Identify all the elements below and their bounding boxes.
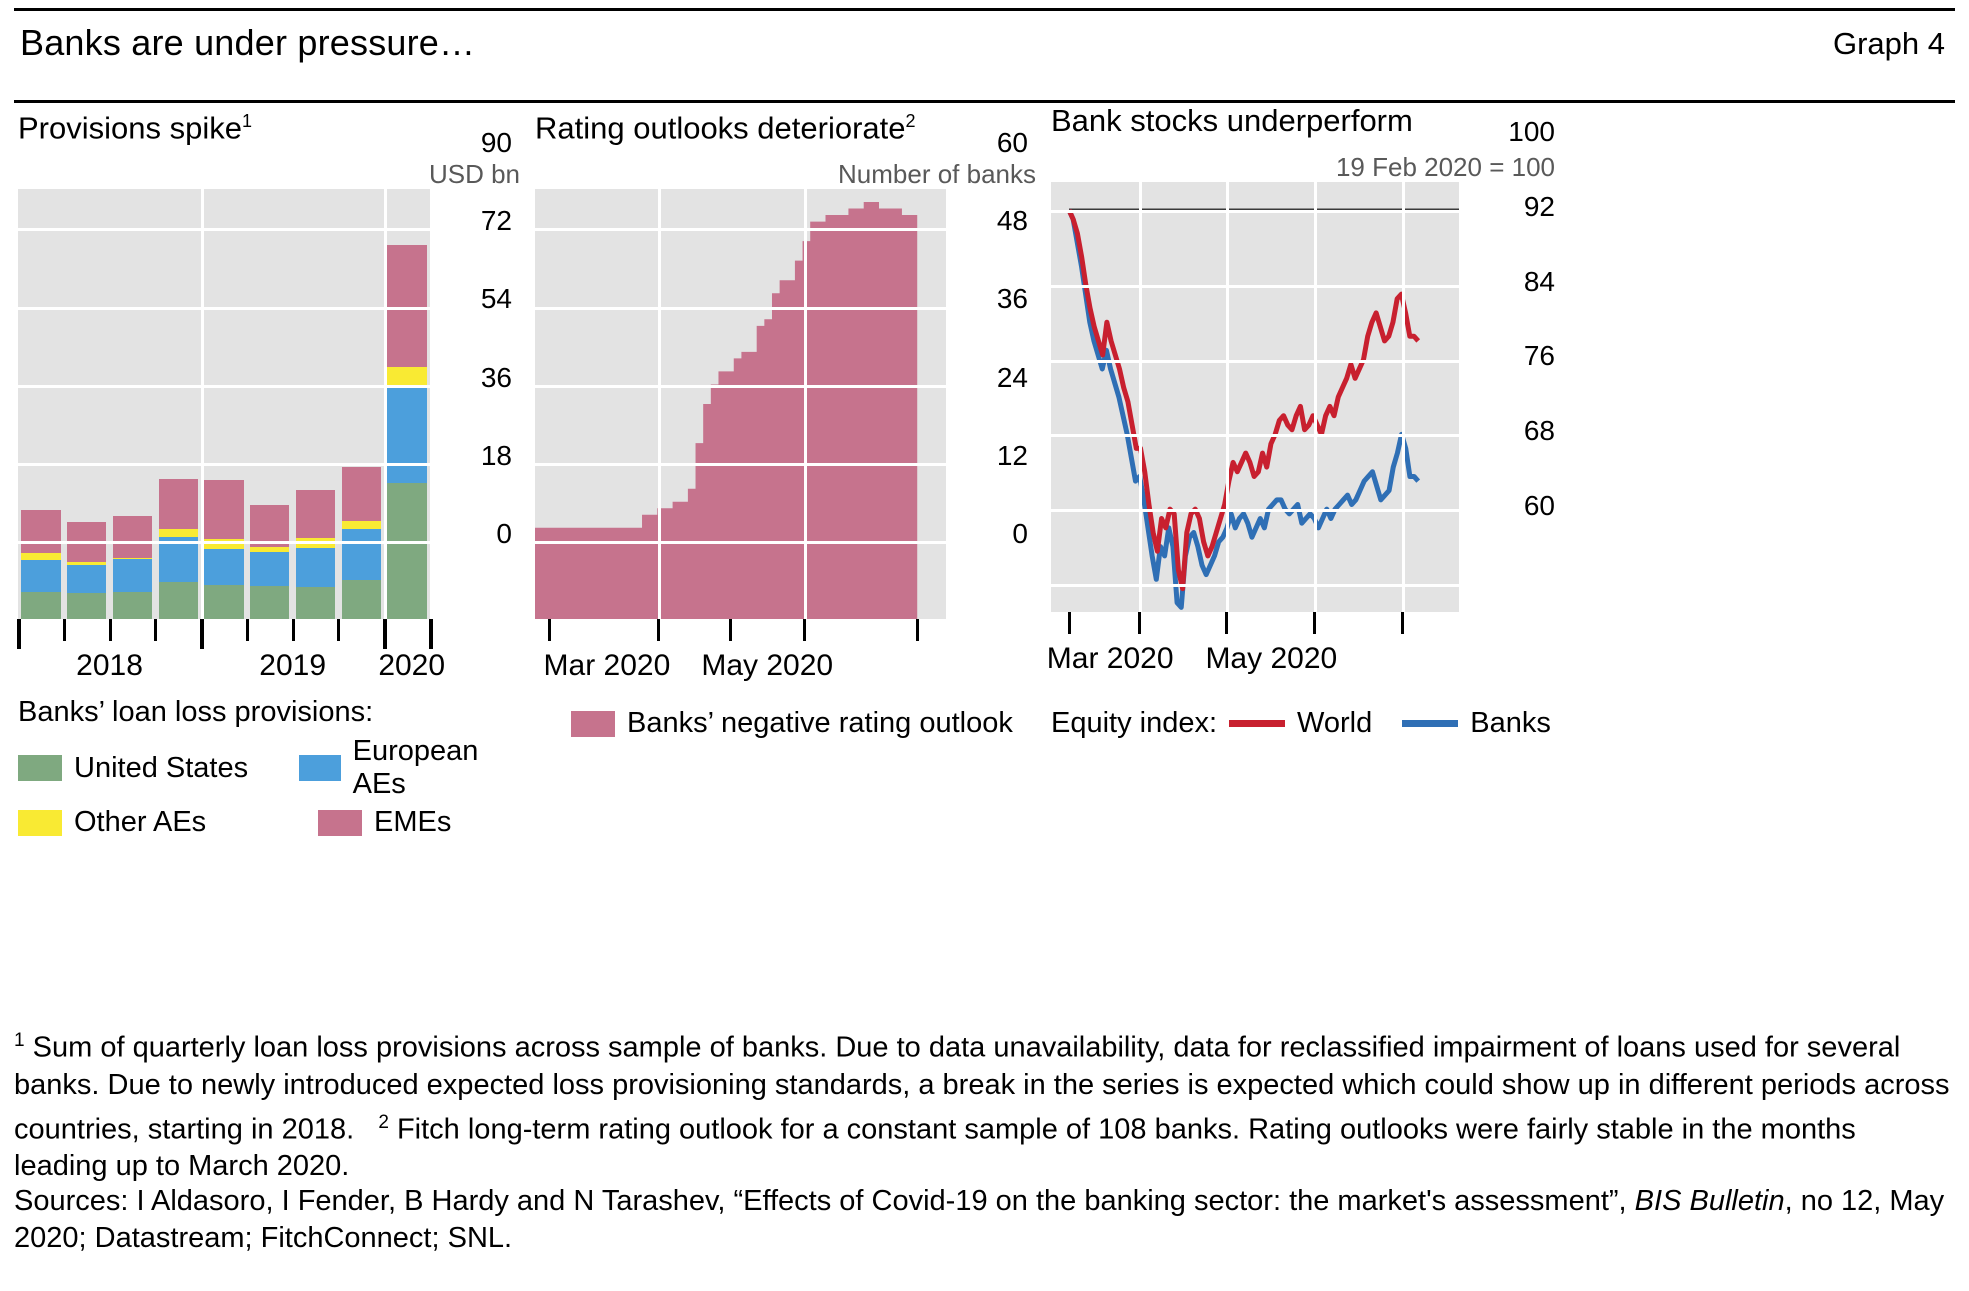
- y-tick-label: 24: [997, 364, 1028, 392]
- gridline-horizontal: [18, 228, 430, 231]
- panel3-lines-svg: [1051, 182, 1459, 612]
- x-tick: [657, 619, 660, 641]
- bar-column: [159, 479, 198, 619]
- line-series-banks: [1069, 210, 1418, 607]
- gridline-vertical: [1139, 182, 1142, 612]
- panel1-title-text: Provisions spike: [18, 110, 242, 145]
- legend1-label-3: EMEs: [374, 806, 451, 839]
- y-tick-label: 36: [481, 364, 512, 392]
- bar-column: [21, 510, 60, 619]
- bar-column: [204, 480, 243, 619]
- header-rule: [14, 100, 1955, 103]
- x-tick: [1138, 612, 1141, 634]
- gridline-horizontal: [1051, 584, 1459, 587]
- x-tick: [803, 619, 806, 641]
- footnote-2-marker: 2: [378, 1112, 389, 1133]
- bar-segment: [67, 565, 106, 594]
- legend-swatch-other-aes: [18, 810, 62, 836]
- legend1-item-united-states[interactable]: United States: [18, 752, 299, 785]
- panel1-plot-area: [18, 189, 430, 619]
- panel3-legend: Equity index: World Banks: [1051, 702, 1551, 740]
- panel2-area-svg: [535, 189, 946, 619]
- x-tick: [17, 619, 21, 649]
- gridline-horizontal: [1051, 285, 1459, 288]
- legend2-row-1: Banks’ negative rating outlook: [571, 707, 1013, 740]
- sources-line: Sources: I Aldasoro, I Fender, B Hardy a…: [14, 1183, 1955, 1257]
- bar-segment: [159, 529, 198, 537]
- y-tick-label: 0: [1012, 520, 1028, 548]
- bar-segment: [21, 560, 60, 592]
- page-title: Banks are under pressure…: [20, 22, 475, 64]
- panel1-legend: Banks’ loan loss provisions: United Stat…: [18, 696, 526, 839]
- legend1-label-0: United States: [74, 752, 248, 785]
- bar-segment: [342, 521, 381, 530]
- panel1-footnote-marker: 1: [242, 111, 252, 131]
- y-tick-label: 76: [1524, 342, 1555, 370]
- bar-segment: [250, 586, 289, 619]
- x-tick: [292, 619, 295, 641]
- bar-segment: [250, 552, 289, 586]
- x-tick: [1401, 612, 1404, 634]
- legend-line-world: [1229, 720, 1285, 727]
- panel2-y-axis: 01224364860: [958, 104, 1028, 534]
- y-tick-label: 72: [481, 207, 512, 235]
- bar-segment: [250, 547, 289, 553]
- gridline-vertical: [1314, 182, 1317, 612]
- bar-segment: [113, 592, 152, 620]
- x-tick: [337, 619, 340, 641]
- gridline-vertical: [201, 189, 204, 619]
- legend-line-banks: [1402, 720, 1458, 727]
- bar-segment: [296, 587, 335, 620]
- gridline-horizontal: [535, 228, 946, 231]
- panel3-x-ticks: [1051, 612, 1459, 642]
- bar-segment: [387, 367, 426, 385]
- gridline-horizontal: [535, 463, 946, 466]
- bar-segment: [67, 593, 106, 619]
- gridline-horizontal: [1051, 434, 1459, 437]
- panel2-x-labels: Mar 2020May 2020: [535, 649, 946, 689]
- x-axis-label: 2019: [259, 649, 326, 683]
- y-tick-label: 0: [496, 520, 512, 548]
- legend-swatch-united-states: [18, 755, 62, 781]
- x-tick: [429, 619, 433, 649]
- legend-swatch-negative-rating-outlook: [571, 711, 615, 737]
- legend1-row-1: United States European AEs: [18, 735, 526, 801]
- panel-provisions: Provisions spike1 USD bn 01836547290 201…: [14, 104, 526, 904]
- sources-prefix: Sources: I Aldasoro, I Fender, B Hardy a…: [14, 1185, 1635, 1217]
- gridline-vertical: [804, 189, 807, 619]
- legend2-item-negative-outlook[interactable]: Banks’ negative rating outlook: [571, 707, 1013, 740]
- y-tick-label: 18: [481, 442, 512, 470]
- bar-segment: [113, 558, 152, 560]
- bar-segment: [387, 483, 426, 620]
- panel2-x-ticks: [535, 619, 946, 649]
- panel-bank-stocks: Bank stocks underperform 19 Feb 2020 = 1…: [1047, 104, 1955, 904]
- legend2-label-0: Banks’ negative rating outlook: [627, 707, 1013, 740]
- legend3-label-0: World: [1297, 707, 1372, 740]
- x-tick: [1225, 612, 1228, 634]
- legend-swatch-european-aes: [299, 755, 340, 781]
- panel3-title-text: Bank stocks underperform: [1051, 103, 1413, 138]
- x-tick: [154, 619, 157, 641]
- panel3-y-axis: 6068768492100: [1471, 104, 1555, 534]
- legend1-item-other-aes[interactable]: Other AEs: [18, 806, 318, 839]
- bar-segment: [21, 510, 60, 553]
- x-tick: [1313, 612, 1316, 634]
- footnotes: 1 Sum of quarterly loan loss provisions …: [14, 1022, 1955, 1185]
- legend1-row-2: Other AEs EMEs: [18, 806, 526, 839]
- y-tick-label: 60: [997, 129, 1028, 157]
- graph-page: Banks are under pressure… Graph 4 Provis…: [0, 0, 1969, 1291]
- y-tick-label: 84: [1524, 268, 1555, 296]
- bar-segment: [159, 479, 198, 529]
- panel3-plot-area: [1051, 182, 1459, 612]
- footnote-1-marker: 1: [14, 1030, 25, 1051]
- x-tick: [246, 619, 249, 641]
- y-tick-label: 12: [997, 442, 1028, 470]
- x-tick: [729, 619, 732, 641]
- bar-segment: [67, 562, 106, 565]
- panel3-x-labels: Mar 2020May 2020: [1051, 642, 1459, 682]
- bar-segment: [21, 553, 60, 560]
- bar-column: [250, 505, 289, 620]
- top-rule: [14, 8, 1955, 11]
- bar-segment: [113, 516, 152, 558]
- legend1-label-1: European AEs: [353, 735, 526, 801]
- bar-segment: [296, 548, 335, 587]
- bar-column: [296, 490, 335, 619]
- gridline-horizontal: [1051, 509, 1459, 512]
- x-axis-label: May 2020: [1205, 642, 1337, 676]
- gridline-horizontal: [535, 385, 946, 388]
- graph-number-label: Graph 4: [1833, 26, 1945, 62]
- gridline-vertical: [1226, 182, 1229, 612]
- bar-segment: [21, 592, 60, 619]
- gridline-horizontal: [535, 541, 946, 544]
- gridline-vertical: [384, 189, 387, 619]
- panel2-footnote-marker: 2: [906, 111, 916, 131]
- y-tick-label: 68: [1524, 417, 1555, 445]
- y-tick-label: 90: [481, 129, 512, 157]
- bar-column: [113, 516, 152, 619]
- y-tick-label: 100: [1508, 118, 1555, 146]
- bar-segment: [204, 549, 243, 585]
- gridline-horizontal: [1051, 210, 1459, 213]
- panel-rating-outlooks: Rating outlooks deteriorate2 Number of b…: [531, 104, 1042, 904]
- x-tick: [548, 619, 551, 641]
- gridline-horizontal: [18, 463, 430, 466]
- panel2-plot-area: [535, 189, 946, 619]
- x-tick: [200, 619, 204, 649]
- gridline-vertical: [1402, 182, 1405, 612]
- y-tick-label: 54: [481, 285, 512, 313]
- gridline-horizontal: [18, 385, 430, 388]
- x-axis-label: May 2020: [701, 649, 833, 683]
- gridline-horizontal: [18, 307, 430, 310]
- bar-column: [387, 245, 426, 619]
- x-axis-label: Mar 2020: [1047, 642, 1174, 676]
- gridline-horizontal: [1051, 360, 1459, 363]
- panel1-y-axis: 01836547290: [442, 104, 512, 534]
- legend1-title: Banks’ loan loss provisions:: [18, 696, 526, 729]
- legend3-title: Equity index:: [1051, 707, 1217, 740]
- sources-italic: BIS Bulletin: [1635, 1185, 1785, 1217]
- bar-segment: [159, 582, 198, 619]
- bar-segment: [342, 467, 381, 521]
- bar-segment: [342, 529, 381, 580]
- legend1-item-emes[interactable]: EMEs: [318, 806, 451, 839]
- area-series-negative-outlook: [535, 202, 917, 619]
- x-tick: [383, 619, 387, 649]
- x-tick: [1068, 612, 1071, 634]
- y-tick-label: 48: [997, 207, 1028, 235]
- y-tick-label: 36: [997, 285, 1028, 313]
- legend3-row-1: Equity index: World Banks: [1051, 707, 1551, 740]
- bar-segment: [387, 385, 426, 483]
- x-axis-label: 2018: [76, 649, 143, 683]
- x-axis-label: Mar 2020: [544, 649, 671, 683]
- x-tick: [109, 619, 112, 641]
- panel1-x-ticks: [18, 619, 430, 649]
- panel1-bars: [18, 189, 430, 619]
- y-tick-label: 60: [1524, 492, 1555, 520]
- panel1-x-labels: 201820192020: [18, 649, 430, 689]
- bar-segment: [204, 480, 243, 539]
- gridline-horizontal: [18, 541, 430, 544]
- bar-column: [67, 522, 106, 619]
- y-tick-label: 92: [1524, 193, 1555, 221]
- legend1-label-2: Other AEs: [74, 806, 206, 839]
- panel2-legend: Banks’ negative rating outlook: [571, 702, 1013, 740]
- bar-segment: [296, 490, 335, 538]
- bar-segment: [204, 585, 243, 620]
- gridline-horizontal: [535, 307, 946, 310]
- x-tick: [916, 619, 919, 641]
- legend-swatch-emes: [318, 810, 362, 836]
- x-axis-label: 2020: [378, 649, 445, 683]
- gridline-vertical: [658, 189, 661, 619]
- legend1-item-european-aes[interactable]: European AEs: [299, 735, 526, 801]
- bar-segment: [342, 580, 381, 619]
- x-tick: [63, 619, 66, 641]
- panel2-title-text: Rating outlooks deteriorate: [535, 110, 906, 145]
- bar-segment: [113, 559, 152, 591]
- legend3-label-1: Banks: [1470, 707, 1551, 740]
